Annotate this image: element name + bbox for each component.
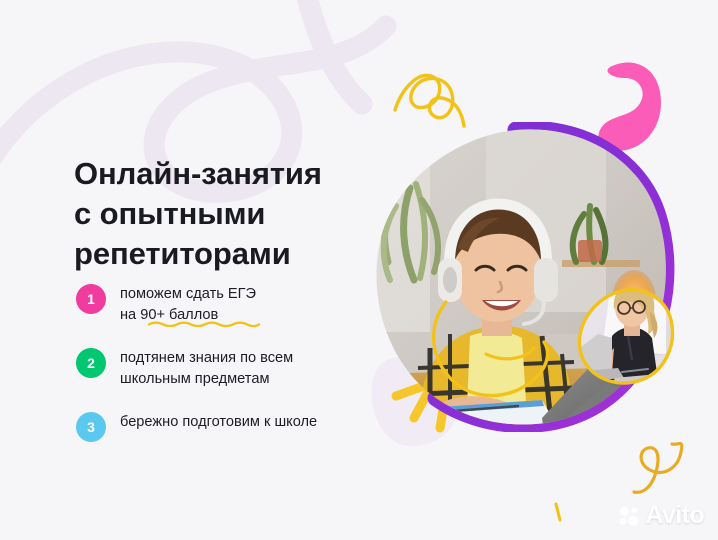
avito-wordmark: Avito <box>645 501 704 530</box>
benefit-text-2: подтянем знания по всем школьным предмет… <box>120 347 293 390</box>
avito-logo-icon <box>618 505 640 527</box>
hero-photo-graphic <box>366 122 680 432</box>
list-item: 2 подтянем знания по всем школьным предм… <box>76 347 396 390</box>
hero-photo <box>366 122 680 432</box>
list-item: 1 поможем сдать ЕГЭ на 90+ баллов <box>76 283 396 326</box>
benefit-badge-3: 3 <box>76 412 106 442</box>
list-item: 3 бережно подготовим к школе <box>76 411 396 442</box>
page-title: Онлайн-занятия с опытными репетиторами <box>74 154 374 275</box>
yellow-squiggle-top-decoration <box>395 75 464 126</box>
benefit-text-3: бережно подготовим к школе <box>120 411 317 433</box>
benefit-badge-1: 1 <box>76 284 106 314</box>
benefits-list: 1 поможем сдать ЕГЭ на 90+ баллов 2 подт… <box>76 283 396 442</box>
yellow-squiggle-bottom-decoration <box>634 444 682 493</box>
benefit-text-1: поможем сдать ЕГЭ на 90+ баллов <box>120 283 256 326</box>
promo-poster: Онлайн-занятия с опытными репетиторами 1… <box>0 0 718 540</box>
yellow-tick-decoration <box>556 504 560 520</box>
avito-watermark: Avito <box>618 501 704 530</box>
benefit-badge-2: 2 <box>76 348 106 378</box>
